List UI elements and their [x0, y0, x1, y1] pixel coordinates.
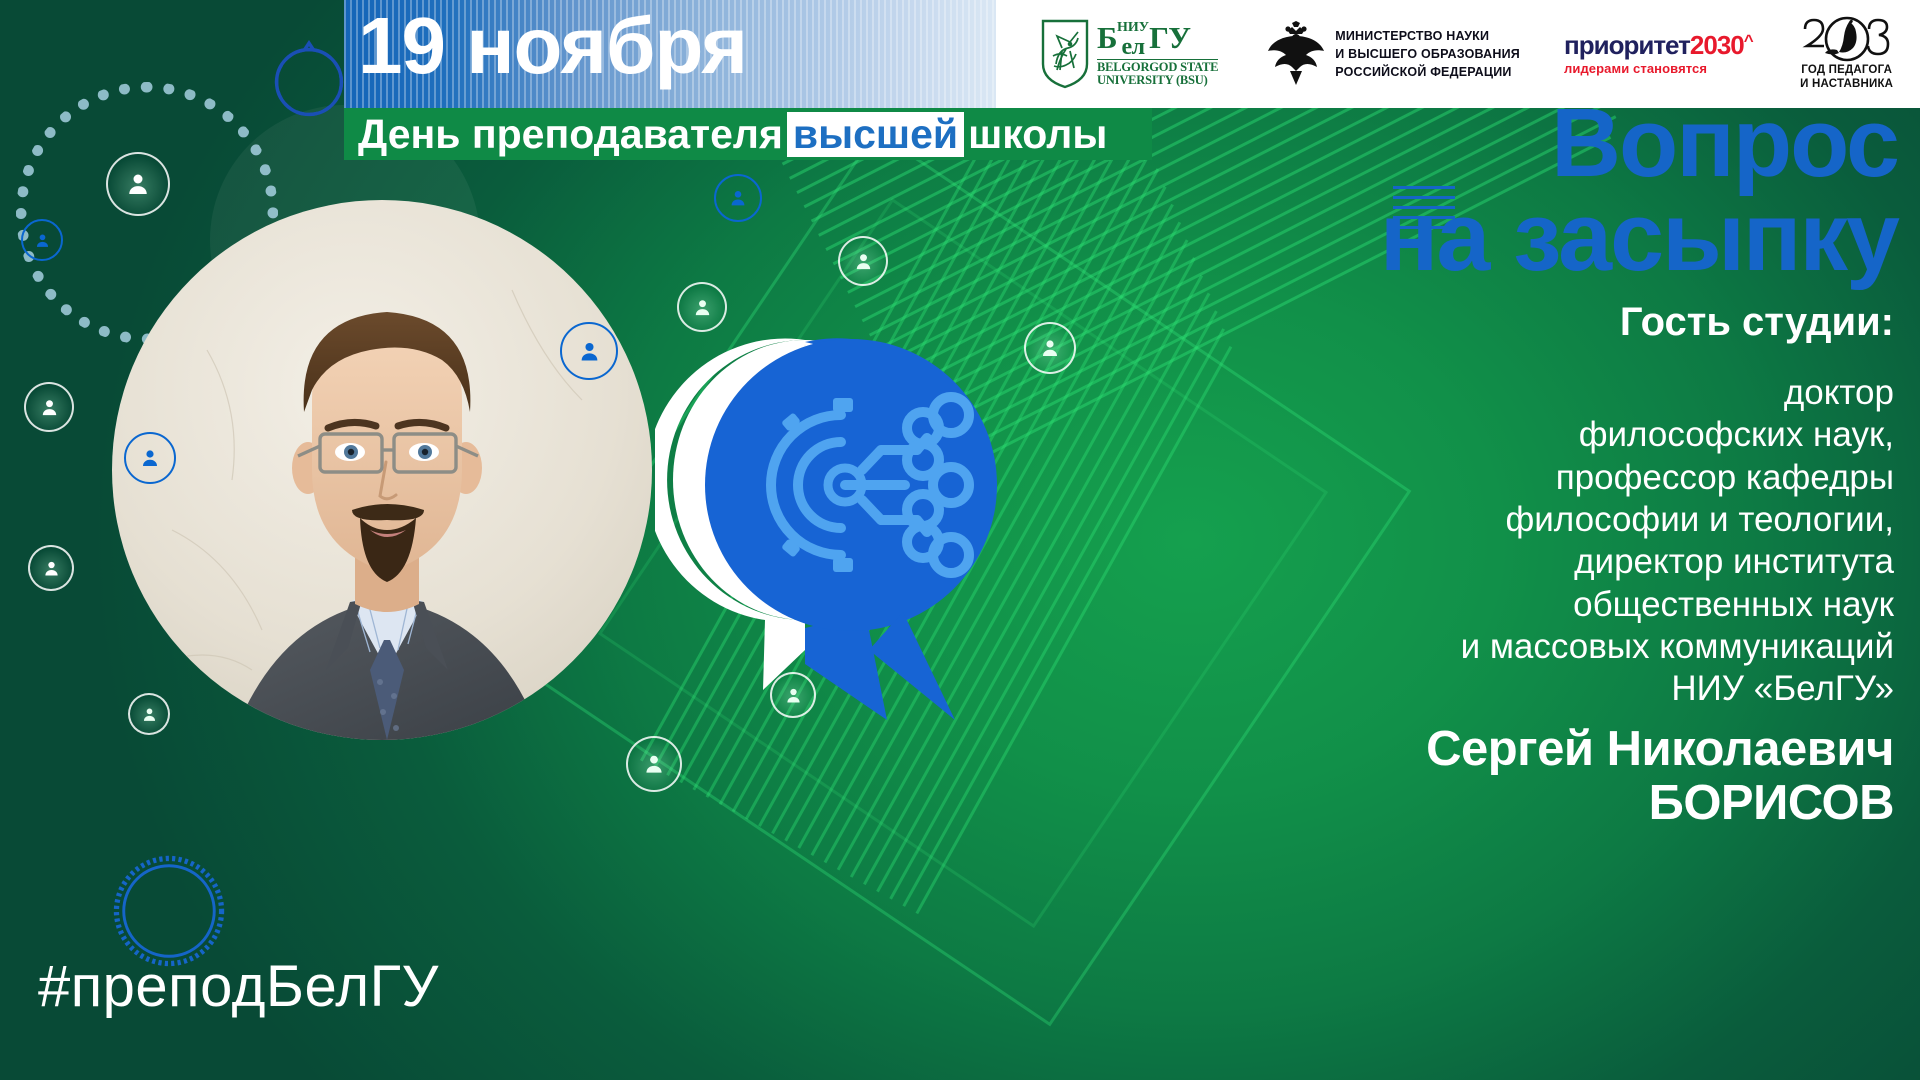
bsu-superscript: НИУ: [1117, 21, 1149, 35]
bsu-letter-b: Б: [1097, 22, 1117, 53]
double-headed-eagle-icon: [1266, 21, 1326, 87]
date-text: 19 ноября: [358, 6, 747, 86]
subtitle-highlight: высшей: [787, 112, 964, 157]
bsu-logo: Б НИУ ел ГУ BELGORGOD STATE UNIVERSITY (…: [1040, 18, 1218, 90]
ministry-line-2: И ВЫСШЕГО ОБРАЗОВАНИЯ: [1335, 45, 1520, 63]
person-icon: [128, 693, 170, 735]
poster-canvas: ?: [0, 0, 1920, 1080]
person-icon: [714, 174, 762, 222]
person-icon: [124, 432, 176, 484]
guest-name: Сергей Николаевич БОРИСОВ: [1426, 723, 1894, 831]
year-teacher-line-1: ГОД ПЕДАГОГА: [1800, 64, 1893, 78]
person-icon: [24, 382, 74, 432]
bsu-letters-el: ел: [1121, 35, 1144, 59]
stripe-accent-decoration: [1393, 186, 1455, 256]
headline-line-1: Вопрос: [1380, 96, 1898, 190]
person-icon: [838, 236, 888, 286]
priority-year: 2030: [1690, 32, 1744, 58]
person-icon: [28, 545, 74, 591]
person-icon: [21, 219, 63, 261]
ministry-line-1: МИНИСТЕРСТВО НАУКИ: [1335, 27, 1520, 45]
page-title: Вопрос на засыпку: [1380, 96, 1898, 284]
ministry-logo: МИНИСТЕРСТВО НАУКИ И ВЫСШЕГО ОБРАЗОВАНИЯ…: [1266, 21, 1520, 87]
guest-description: доктор философских наук, профессор кафед…: [1461, 372, 1894, 711]
priority-2030-logo: приоритет 2030 ^ лидерами становятся: [1564, 32, 1753, 76]
guest-label: Гость студии:: [1620, 300, 1894, 345]
bsu-letters-gu: ГУ: [1149, 22, 1190, 53]
pelican-2023-icon: [1799, 16, 1895, 62]
subtitle-line: День преподавателя высшей школы: [358, 108, 1107, 160]
subtitle-prefix: День преподавателя: [358, 114, 783, 155]
bsu-shield-icon: [1040, 18, 1090, 90]
hashtag-text: #преподБелГУ: [38, 953, 439, 1020]
priority-tagline: лидерами становятся: [1564, 61, 1707, 76]
ministry-line-3: РОССИЙСКОЙ ФЕДЕРАЦИИ: [1335, 63, 1520, 81]
guest-portrait-photo: [112, 200, 652, 740]
bsu-eng-line-1: BELGORGOD STATE: [1097, 59, 1218, 74]
speech-bubbles-graphic: ?: [655, 320, 1075, 750]
priority-word: приоритет: [1564, 32, 1690, 58]
priority-caret: ^: [1744, 32, 1753, 49]
subtitle-suffix: школы: [968, 114, 1107, 155]
person-icon: [106, 152, 170, 216]
headline-line-2: на засыпку: [1380, 190, 1898, 284]
year-of-teacher-logo: ГОД ПЕДАГОГА И НАСТАВНИКА: [1799, 16, 1895, 92]
person-icon: [560, 322, 618, 380]
bsu-eng-line-2: UNIVERSITY (BSU): [1097, 73, 1218, 87]
